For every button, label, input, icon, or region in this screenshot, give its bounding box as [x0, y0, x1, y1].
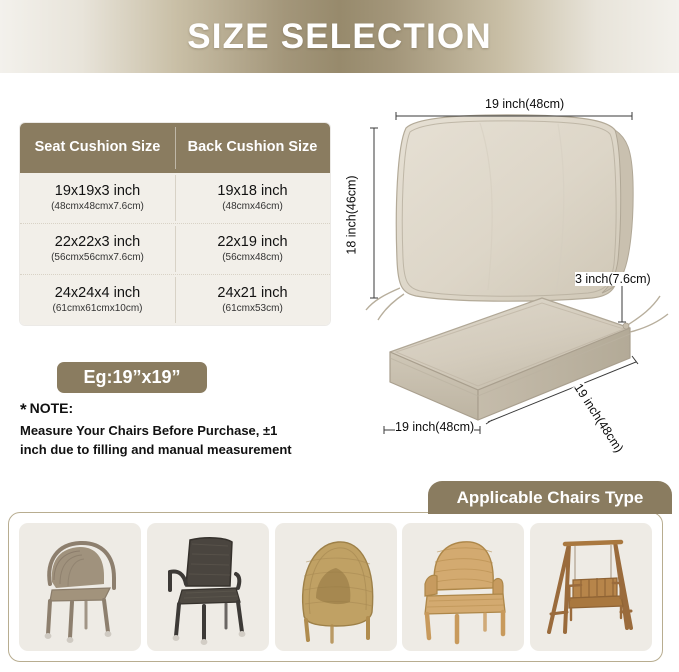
- note-block: *NOTE: Measure Your Chairs Before Purcha…: [20, 400, 300, 459]
- back-size-cm: (48cmx46cm): [222, 200, 283, 213]
- seat-size-cm: (61cmx61cmx10cm): [52, 302, 142, 315]
- seat-size-cell: 19x19x3 inch (48cmx48cmx7.6cm): [20, 173, 175, 223]
- back-size-inch: 24x21 inch: [217, 285, 287, 302]
- seat-size-cell: 24x24x4 inch (61cmx61cmx10cm): [20, 275, 175, 325]
- wooden-porch-swing-icon: [535, 528, 647, 646]
- example-size-badge: Eg:19”x19”: [57, 362, 207, 393]
- seat-size-inch: 19x19x3 inch: [55, 183, 140, 200]
- table-header-row: Seat Cushion Size Back Cushion Size: [20, 123, 330, 173]
- tan-barrel-wicker-chair-icon: [280, 528, 392, 646]
- table-row: 19x19x3 inch (48cmx48cmx7.6cm) 19x18 inc…: [20, 173, 330, 223]
- chair-card-tan-barrel-wicker-chair[interactable]: [275, 523, 397, 651]
- seat-cushion-shape: [390, 296, 668, 420]
- back-size-cm: (61cmx53cm): [222, 302, 283, 315]
- chair-card-wooden-porch-swing[interactable]: [530, 523, 652, 651]
- back-size-cm: (56cmx48cm): [222, 251, 283, 264]
- dimension-label-seat-width: 19 inch(48cm): [395, 420, 474, 434]
- applicable-chairs-panel: [8, 512, 663, 662]
- back-size-cell: 22x19 inch (56cmx48cm): [175, 224, 330, 274]
- table-row: 22x22x3 inch (56cmx56cmx7.6cm) 22x19 inc…: [20, 223, 330, 274]
- note-body: Measure Your Chairs Before Purchase, ±1 …: [20, 422, 300, 459]
- note-heading-label: NOTE:: [30, 400, 74, 416]
- seat-size-cm: (56cmx56cmx7.6cm): [51, 251, 144, 264]
- chair-card-light-wicker-armchair[interactable]: [402, 523, 524, 651]
- page-title: SIZE SELECTION: [187, 17, 492, 57]
- table-row: 24x24x4 inch (61cmx61cmx10cm) 24x21 inch…: [20, 274, 330, 325]
- page-banner: SIZE SELECTION: [0, 0, 679, 73]
- chair-card-round-back-rattan-stacking-chair[interactable]: [19, 523, 141, 651]
- seat-size-inch: 22x22x3 inch: [55, 234, 140, 251]
- seat-size-cm: (48cmx48cmx7.6cm): [51, 200, 144, 213]
- size-table: Seat Cushion Size Back Cushion Size 19x1…: [20, 123, 330, 325]
- table-header-seat-cushion-size: Seat Cushion Size: [20, 123, 175, 173]
- back-size-cell: 24x21 inch (61cmx53cm): [175, 275, 330, 325]
- dimension-label-back-width: 19 inch(48cm): [485, 97, 564, 111]
- dimension-label-back-height: 18 inch(46cm): [345, 175, 359, 254]
- seat-size-cell: 22x22x3 inch (56cmx56cmx7.6cm): [20, 224, 175, 274]
- back-size-cell: 19x18 inch (48cmx46cm): [175, 173, 330, 223]
- round-back-rattan-stacking-chair-icon: [24, 528, 136, 646]
- asterisk-icon: *: [20, 400, 27, 419]
- chair-card-dark-wicker-high-back-armchair[interactable]: [147, 523, 269, 651]
- table-header-back-cushion-size: Back Cushion Size: [175, 123, 330, 173]
- light-wicker-armchair-icon: [407, 528, 519, 646]
- back-size-inch: 22x19 inch: [217, 234, 287, 251]
- dimension-label-seat-thickness: 3 inch(7.6cm): [575, 272, 651, 286]
- dark-wicker-high-back-armchair-icon: [152, 528, 264, 646]
- back-size-inch: 19x18 inch: [217, 183, 287, 200]
- seat-size-inch: 24x24x4 inch: [55, 285, 140, 302]
- applicable-chairs-tab: Applicable Chairs Type: [428, 481, 672, 514]
- cushion-dimension-diagram: 19 inch(48cm) 18 inch(46cm) 3 inch(7.6cm…: [330, 90, 679, 460]
- back-cushion-shape: [366, 115, 633, 320]
- note-heading: *NOTE:: [20, 400, 300, 420]
